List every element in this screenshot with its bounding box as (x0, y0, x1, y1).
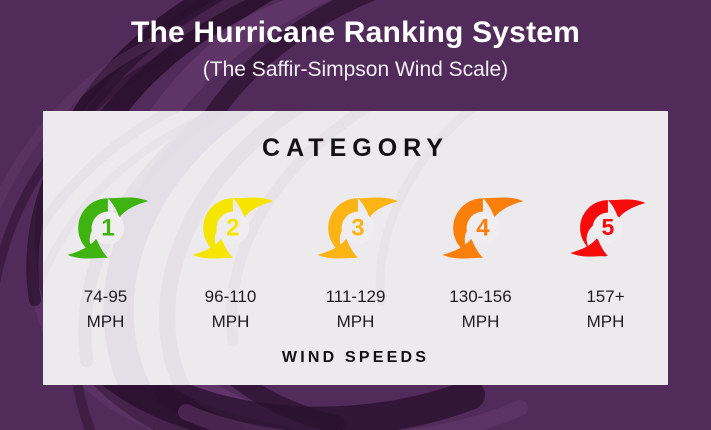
wind-speed-value-3: 111-129 (326, 287, 386, 306)
category-list: 1 74-95 MPH (43, 180, 668, 334)
wind-speed-unit-5: MPH (586, 310, 624, 335)
svg-text:1: 1 (101, 215, 114, 242)
hurricane-icon-2: 2 (183, 180, 279, 276)
category-item-5[interactable]: 5 157+ MPH (548, 180, 663, 334)
wind-speeds-footer-label: WIND SPEEDS (43, 349, 668, 367)
hurricane-icon-3: 3 (308, 180, 404, 276)
wind-speed-value-1: 74-95 (84, 287, 127, 306)
category-item-2[interactable]: 2 96-110 MPH (173, 180, 288, 334)
wind-speed-value-5: 157+ (586, 287, 624, 306)
wind-speed-unit-4: MPH (449, 310, 511, 335)
wind-speed-1: 74-95 MPH (84, 285, 127, 334)
wind-speed-unit-1: MPH (84, 310, 127, 335)
header: The Hurricane Ranking System (The Saffir… (0, 0, 711, 111)
category-item-4[interactable]: 4 130-156 MPH (423, 180, 538, 334)
hurricane-icon-4: 4 (433, 180, 529, 276)
infographic-canvas: The Hurricane Ranking System (The Saffir… (0, 0, 711, 430)
wind-speed-unit-3: MPH (326, 310, 386, 335)
hurricane-icon-1: 1 (58, 180, 154, 276)
svg-text:4: 4 (476, 215, 490, 242)
category-item-1[interactable]: 1 74-95 MPH (48, 180, 163, 334)
svg-text:5: 5 (601, 214, 614, 240)
page-subtitle: (The Saffir-Simpson Wind Scale) (203, 58, 508, 81)
wind-speed-4: 130-156 MPH (449, 285, 511, 334)
wind-speed-3: 111-129 MPH (326, 285, 386, 334)
page-title: The Hurricane Ranking System (131, 16, 580, 49)
wind-speed-value-2: 96-110 (205, 287, 257, 306)
hurricane-icon-5: 5 (558, 180, 654, 276)
category-item-3[interactable]: 3 111-129 MPH (298, 180, 413, 334)
category-heading: CATEGORY (43, 134, 668, 163)
category-card: CATEGORY (43, 111, 668, 385)
wind-speed-value-4: 130-156 (449, 287, 511, 306)
wind-speed-2: 96-110 MPH (205, 285, 257, 334)
svg-text:2: 2 (226, 215, 239, 242)
wind-speed-5: 157+ MPH (586, 285, 624, 334)
svg-text:3: 3 (351, 215, 364, 242)
wind-speed-unit-2: MPH (205, 310, 257, 335)
